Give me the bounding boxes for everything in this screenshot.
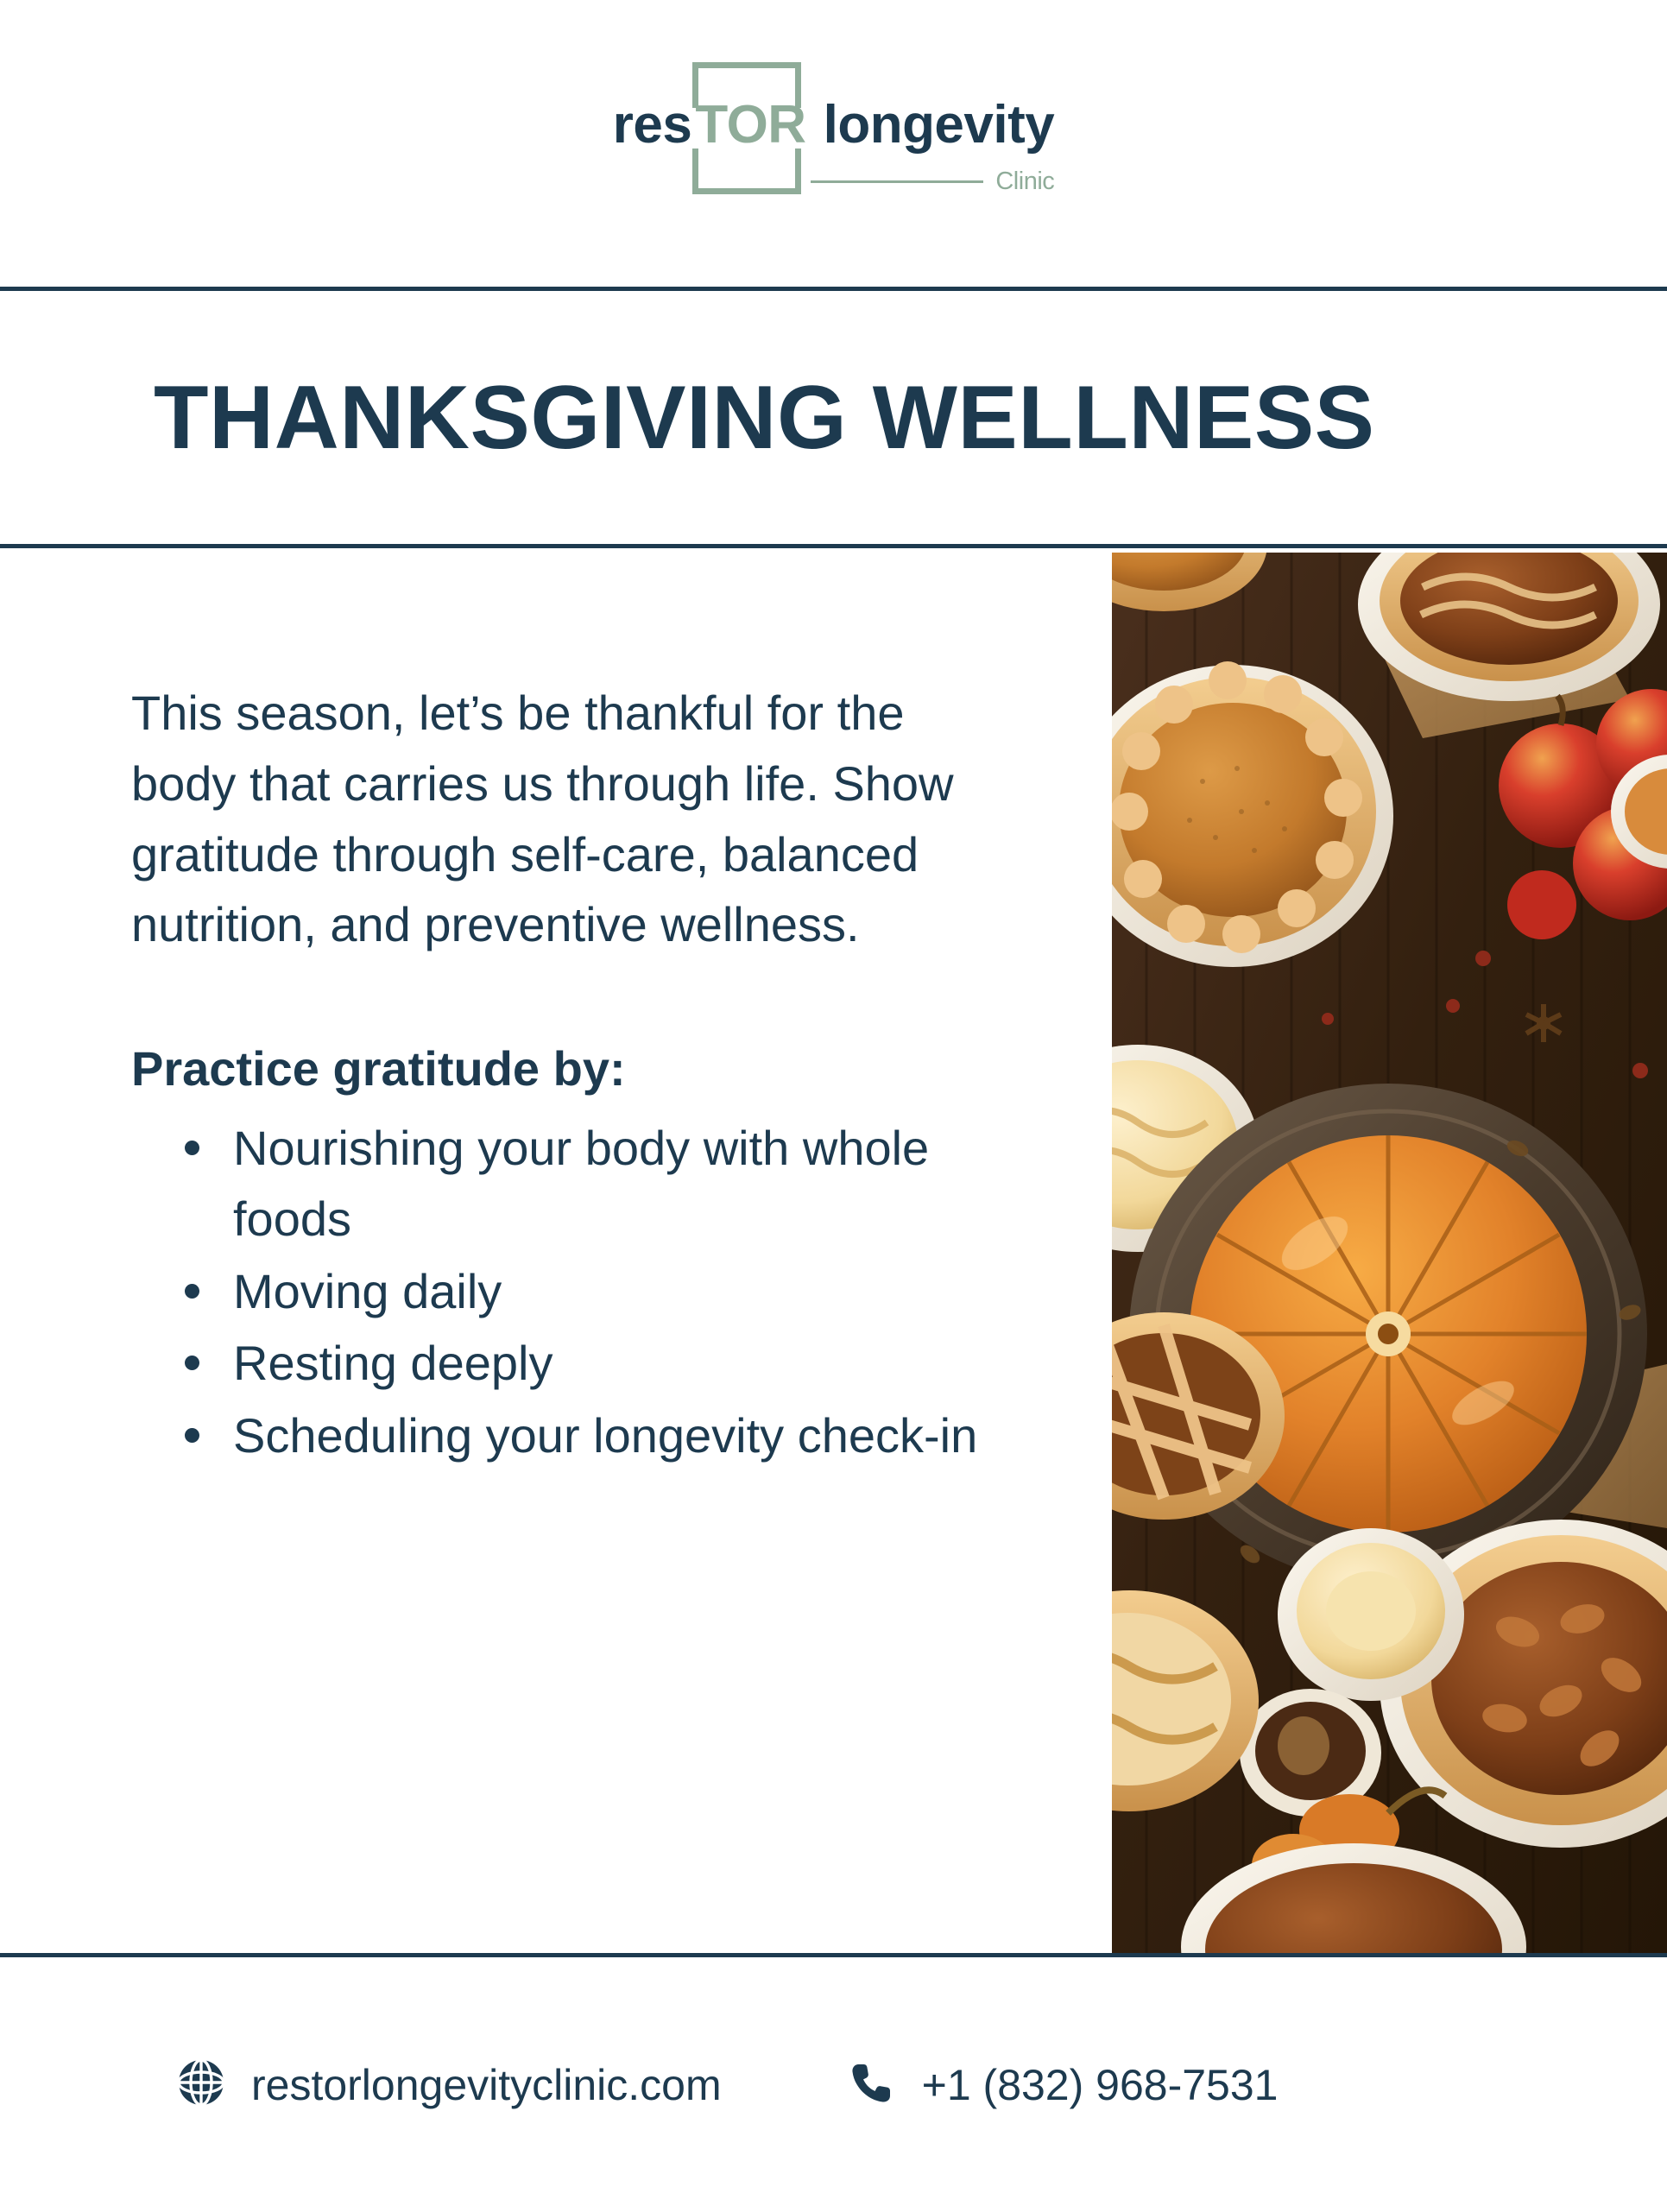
globe-icon (177, 2058, 225, 2111)
practice-heading: Practice gratitude by: (131, 1040, 1003, 1097)
logo-text-clinic: Clinic (995, 169, 1054, 194)
logo-subline: Clinic (811, 169, 1054, 194)
title-band: THANKSGIVING WELLNESS (0, 291, 1667, 544)
phone-text: +1 (832) 968-7531 (922, 2063, 1279, 2107)
thanksgiving-photo (1112, 553, 1667, 1953)
poster-page: res TOR longevity Clinic THANKSGIVING WE… (0, 0, 1667, 2212)
gratitude-list: Nourishing your body with whole foods Mo… (131, 1113, 1003, 1471)
page-title: THANKSGIVING WELLNESS (0, 373, 1375, 463)
list-item: Scheduling your longevity check-in (131, 1400, 1003, 1471)
logo-text-longevity: longevity (824, 98, 1055, 152)
phone-icon (848, 2058, 896, 2111)
logo-wordmark: res TOR longevity Clinic (613, 98, 1055, 152)
text-column: This season, let’s be thankful for the b… (131, 678, 1003, 1473)
footer: restorlongevityclinic.com +1 (832) 968-7… (0, 1957, 1667, 2212)
website-text: restorlongevityclinic.com (251, 2063, 722, 2107)
logo-text-tor: TOR (691, 98, 809, 152)
logo-bracket-bottom-icon (692, 149, 801, 194)
phone-contact[interactable]: +1 (832) 968-7531 (848, 2058, 1279, 2111)
header: res TOR longevity Clinic (0, 0, 1667, 288)
list-item: Resting deeply (131, 1328, 1003, 1399)
intro-paragraph: This season, let’s be thankful for the b… (131, 678, 1003, 960)
logo-text-res: res (613, 98, 692, 152)
main-content: This season, let’s be thankful for the b… (0, 548, 1667, 1953)
website-contact[interactable]: restorlongevityclinic.com (177, 2058, 722, 2111)
logo-subline-rule (811, 180, 983, 183)
list-item: Moving daily (131, 1256, 1003, 1327)
brand-logo: res TOR longevity Clinic (613, 98, 1055, 211)
list-item: Nourishing your body with whole foods (131, 1113, 1003, 1255)
